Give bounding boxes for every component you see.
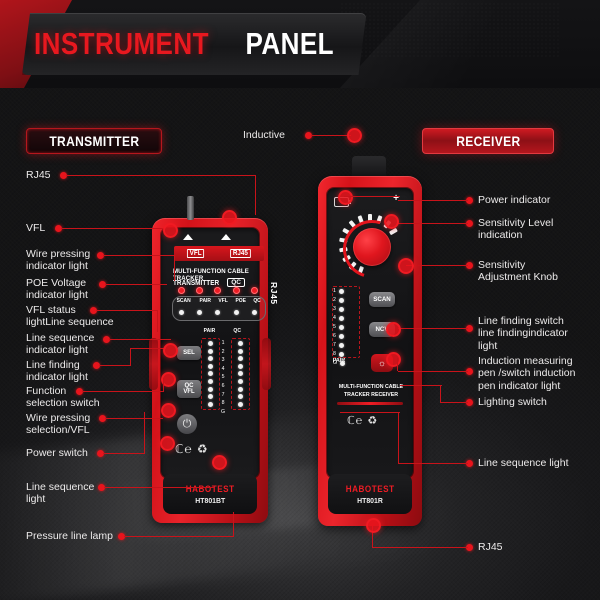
callout-line2-power-indicator [344,196,400,197]
callout-label-vfl-status: VFL status lightLine sequence [26,304,114,329]
callout-label-line-sequence-light-right: Line sequence light [478,457,569,469]
callout-line-line-sequence-indicator [109,339,171,340]
callout-label-rj45-left: RJ45 [26,169,51,181]
power-switch-button[interactable]: ⏻ [177,414,197,434]
port-arrow-vfl-icon [183,234,193,240]
callout-line-sensitivity-level [398,223,468,224]
receiver-title-line1: MULTI-FUNCTION CABLE [339,384,403,390]
callout-line-lighting-switch [440,402,468,403]
receiver-row-3: 3 [333,306,345,312]
row-number-1: 1 [222,340,225,346]
pair-led-g [208,402,213,407]
qc-led-8 [238,394,243,399]
transmitter-white-led-row [172,308,264,317]
led-poe [233,287,240,294]
transmitter-status-led-row [172,286,264,295]
transmitter-grip-right [262,338,271,390]
port-arrow-rj45-icon [221,234,231,240]
callout-label-lighting-switch: Lighting switch [478,396,547,408]
receiver-row-7: 7 [333,342,345,348]
receiver-row-4: 4 [333,315,345,321]
callout-ring-rj45-left [222,210,237,225]
pair-led-1 [208,341,213,346]
callout-label-power-switch: Power switch [26,447,88,459]
pair-led-4 [208,364,213,369]
callout-drop-line-sequence-light-right [398,412,399,464]
transmitter-qc-led-column [231,338,250,410]
qc-led-7 [238,387,243,392]
callout-ring-sensitivity-level [384,214,399,229]
callout-line-inductive [311,135,351,136]
led-label-poe: POE [236,298,246,304]
callout-drop-wire-pressing-indicator [174,255,175,281]
callout-line-line-finding-switch [398,328,468,329]
title-instrument: INSTRUMENT [34,26,209,62]
callout-drop-pressure-line-lamp [233,512,234,536]
white-led-vfl [215,310,220,315]
callout-ring-power-switch [160,436,175,451]
callout-label-line-finding-indicator: Line finding indicator light [26,359,88,384]
receiver-title: MULTI-FUNCTION CABLE TRACKER RECEIVER [335,384,406,399]
receiver-row-1: 1 [333,288,345,294]
led-scan [178,287,185,294]
callout-line-wire-pressing-indicator [103,255,175,256]
callout-label-wire-pressing-indicator: Wire pressing indicator light [26,248,90,273]
callout-line-sensitivity-knob [406,265,468,266]
pair-led-3 [208,356,213,361]
callout-drop-lighting-switch [440,385,441,403]
receiver-ce-mark: ℂ℮ ♻ [347,414,378,427]
pair-led-5 [208,371,213,376]
lamp-icon: ☼ [378,358,386,368]
row-number-7: 7 [222,392,225,398]
callout-label-sensitivity-knob: Sensitivity Adjustment Knob [478,259,558,284]
callout-label-poe-voltage: POE Voltage indicator light [26,277,88,302]
callout-line-power-indicator [398,200,468,201]
transmitter-brand: HABOTEST [186,484,235,494]
vfl-emitter-stalk [187,196,194,220]
callout-line-vfl-status [96,310,158,311]
transmitter-pair-led-column [201,338,220,410]
pair-led-2 [208,349,213,354]
row-number-2: 2 [222,349,225,355]
callout-label-rj45-right: RJ45 [478,541,503,553]
callout-drop-rj45-left [255,175,256,215]
qc-led-3 [238,356,243,361]
callout-line-function-selection [82,391,164,392]
row-number-g: G [221,409,225,415]
callout-line-line-sequence-light-right [398,463,468,464]
title-panel: PANEL [238,26,334,62]
callout-ring-induction-pen [386,352,401,367]
receiver-row-6: 6 [333,333,345,339]
callout-line2-line-sequence-light-right [340,412,400,413]
led-vfl [214,287,221,294]
receiver-pair-label: PAIR [333,358,346,364]
callout-line-pressure-line-lamp [124,536,234,537]
row-number-3: 3 [222,357,225,363]
callout-drop-line-finding-indicator [130,348,131,366]
callout-line-power-switch [103,453,145,454]
callout-line-wire-pressing-selection [105,418,163,419]
qc-led-1 [238,341,243,346]
callout-line-rj45-left [66,175,256,176]
power-icon: ⏻ [183,418,192,431]
receiver-device: + 1 2 3 4 [318,176,422,526]
callout-label-line-sequence-light-left: Line sequence light [26,481,94,506]
led-qc [251,287,258,294]
callout-line-induction-pen [398,371,468,372]
callout-drop-vfl-status [157,310,158,332]
pair-led-8 [208,394,213,399]
instrument-panel-diagram: INSTRUMENT PANEL TRANSMITTER RECEIVER VF… [0,0,600,600]
receiver-row-8: 8 [333,351,345,357]
callout-ring-line-finding-switch [386,322,401,337]
scan-button[interactable]: SCAN [369,292,395,307]
callout-ring-sensitivity-knob [398,258,414,274]
led-pair [196,287,203,294]
transmitter-column-header-qc: QC [233,328,241,334]
transmitter-row-numbers: 1 2 3 4 5 6 7 8 G [221,340,225,415]
transmitter-grip-left [149,338,158,390]
callout-ring-line-sequence-light-left [212,455,227,470]
sensitivity-adjustment-knob[interactable] [353,228,391,266]
transmitter-brand-plate: HABOTEST HT801BT [163,474,257,514]
row-number-8: 8 [222,400,225,406]
callout-drop-induction-pen [397,358,398,371]
row-number-6: 6 [222,383,225,389]
callout-line-vfl [61,228,165,229]
led-label-vfl: VFL [218,298,227,304]
pair-led-6 [208,379,213,384]
qc-led-4 [238,364,243,369]
receiver-row-2: 2 [333,297,345,303]
callout-ring-inductive [347,128,362,143]
white-led-pair [197,310,202,315]
receiver-brand-plate: HABOTEST HT801R [328,474,412,514]
callout-label-function-selection: Function selection switch [26,385,100,410]
callout-drop-function-selection [163,378,164,391]
callout-ring-vfl [163,223,178,238]
callout-label-vfl: VFL [26,222,45,234]
white-led-qc [252,310,257,315]
callout-label-line-sequence-indicator: Line sequence indicator light [26,332,94,357]
receiver-model: HT801R [357,496,383,505]
callout-line-rj45-right [372,547,468,548]
page-title: INSTRUMENT PANEL [22,13,366,75]
qc-led-2 [238,349,243,354]
callout-label-sensitivity-level: Sensitivity Level indication [478,217,553,242]
receiver-row-numbers: 1 2 3 4 5 6 7 8 G [333,288,345,366]
section-badge-transmitter: TRANSMITTER [26,128,162,154]
white-led-scan [179,310,184,315]
callout-line-line-finding-indicator [99,365,131,366]
led-label-pair: PAIR [199,298,210,304]
transmitter-device: VFL RJ45 MULTI-FUNCTION CABLE TRACKER TR… [152,218,268,523]
callout-line2-line-finding-indicator [130,348,166,349]
qc-led-6 [238,379,243,384]
callout-label-line-finding-switch: Line finding switch line findingindicato… [478,315,568,352]
port-label-vfl: VFL [187,249,204,258]
qc-led-g [238,402,243,407]
callout-label-pressure-line-lamp: Pressure line lamp [26,530,113,542]
callout-label-inductive: Inductive [243,129,285,141]
white-led-poe [234,310,239,315]
receiver-brand: HABOTEST [346,484,395,494]
callout-label-wire-pressing-selection: Wire pressing selection/VFL [26,412,90,437]
callout-line-poe-voltage [105,284,167,285]
callout-label-induction-pen: Induction measuring pen /switch inductio… [478,355,575,392]
receiver-title-line2: TRACKER RECEIVER [344,392,398,398]
callout-ring-wire-pressing-selection [161,403,176,418]
led-label-qc: QC [254,298,261,304]
callout-ring-power-indicator [338,190,353,205]
rj45-vertical-label: RJ45 [269,282,279,305]
callout-label-power-indicator: Power indicator [478,194,550,206]
qc-led-5 [238,371,243,376]
receiver-row-5: 5 [333,324,345,330]
sel-button[interactable]: SEL [177,346,201,360]
callout-line2-lighting-switch [400,385,442,386]
transmitter-model: HT801BT [195,496,225,505]
callout-line-line-sequence-light-left [104,487,214,488]
row-number-5: 5 [222,374,225,380]
ce-mark: ℂ℮ ♻ [175,442,209,456]
callout-ring-rj45-right [366,518,381,533]
transmitter-column-header-pair: PAIR [204,328,216,334]
receiver-accent-bar [337,402,403,405]
port-label-rj45: RJ45 [230,249,250,258]
section-badge-receiver: RECEIVER [422,128,554,154]
led-label-scan: SCAN [177,298,191,304]
pair-led-7 [208,387,213,392]
transmitter-port-bar: VFL RJ45 [174,246,264,261]
header-dot-texture [340,2,560,58]
row-number-4: 4 [222,366,225,372]
callout-ring-line-finding-indicator [163,343,178,358]
callout-drop-power-switch [144,412,145,454]
qc-vfl-button[interactable]: QC VFL [177,380,201,398]
